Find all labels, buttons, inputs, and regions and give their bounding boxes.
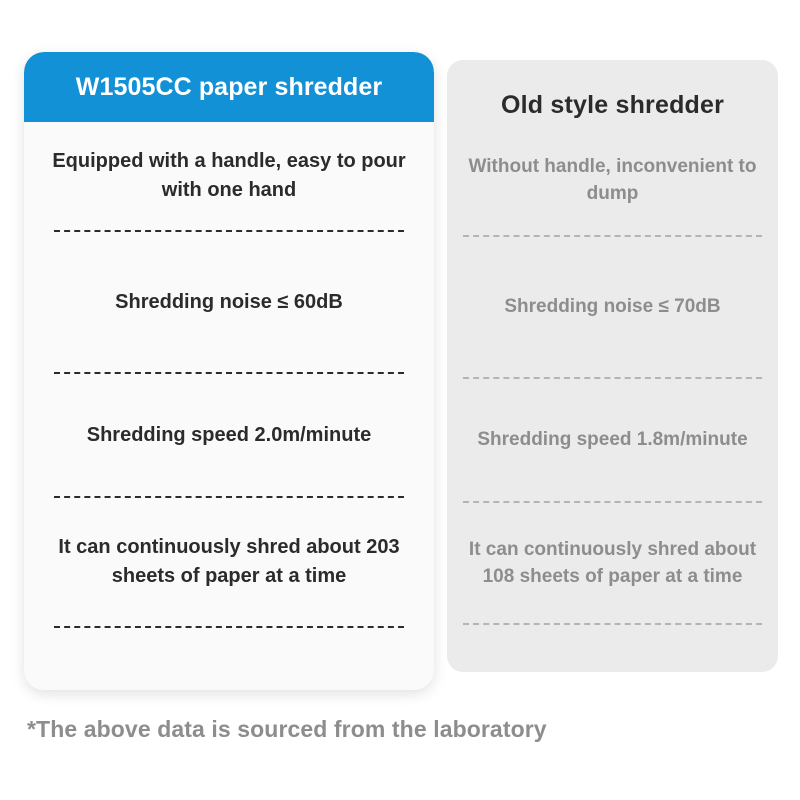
- new-card-spacer: [42, 628, 416, 690]
- new-product-card: W1505CC paper shredder Equipped with a h…: [24, 52, 434, 690]
- new-product-feature-2: Shredding noise ≤ 60dB: [42, 232, 416, 372]
- comparison-table: Old style shredder Without handle, incon…: [0, 0, 800, 800]
- old-product-card: Old style shredder Without handle, incon…: [447, 60, 778, 672]
- new-product-feature-1: Equipped with a handle, easy to pour wit…: [42, 122, 416, 230]
- old-product-feature-3: Shredding speed 1.8m/minute: [461, 379, 764, 501]
- new-product-title: W1505CC paper shredder: [76, 73, 382, 102]
- new-product-feature-3: Shredding speed 2.0m/minute: [42, 374, 416, 496]
- new-product-body: Equipped with a handle, easy to pour wit…: [24, 122, 434, 690]
- old-product-feature-1: Without handle, inconvenient to dump: [461, 125, 764, 235]
- footnote: *The above data is sourced from the labo…: [27, 716, 547, 743]
- old-card-spacer: [461, 625, 764, 672]
- new-product-header: W1505CC paper shredder: [24, 52, 434, 122]
- old-product-title: Old style shredder: [461, 60, 764, 125]
- old-product-feature-2: Shredding noise ≤ 70dB: [461, 237, 764, 377]
- old-product-feature-4: It can continuously shred about 108 shee…: [461, 503, 764, 623]
- new-product-feature-4: It can continuously shred about 203 shee…: [42, 498, 416, 626]
